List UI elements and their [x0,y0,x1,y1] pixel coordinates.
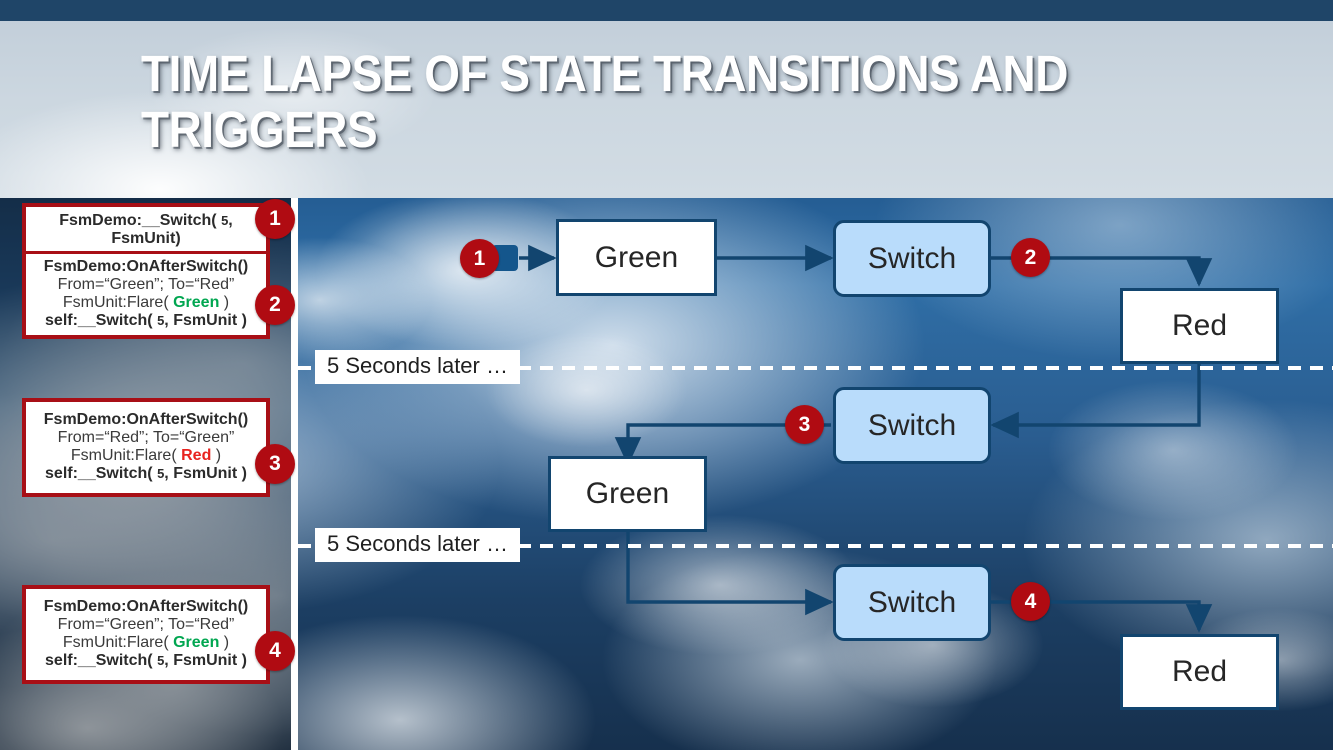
badge-step-2-left[interactable]: 2 [255,285,295,325]
card1-b-line4post: , FsmUnit ) [164,312,247,329]
slide-canvas: Time Lapse of State Transitions and Trig… [0,0,1333,750]
card2-line3pre: FsmUnit:Flare( [71,447,181,464]
card1-b-line3kw: Green [173,294,219,311]
code-card-3[interactable]: FsmDemo:OnAfterSwitch() From=“Green”; To… [22,585,270,684]
card1-b-line1: FsmDemo:OnAfterSwitch() [32,258,260,276]
code-card-1[interactable]: FsmDemo:__Switch( 5, FsmUnit) FsmDemo:On… [22,203,270,339]
card1-line1b: , [228,212,232,229]
card3-line4pre: self:__Switch( [45,652,157,669]
badge-diagram-3[interactable]: 3 [785,405,824,444]
node-red-bottom[interactable]: Red [1120,634,1279,710]
badge-step-2-left-label: 2 [269,293,281,317]
node-red-top-label: Red [1172,309,1227,343]
badge-diagram-2[interactable]: 2 [1011,238,1050,277]
node-green-top[interactable]: Green [556,219,717,296]
card1-b-line3pre: FsmUnit:Flare( [63,294,173,311]
node-switch-top[interactable]: Switch [833,220,991,297]
card3-line3pre: FsmUnit:Flare( [63,634,173,651]
badge-step-4-left-label: 4 [269,639,281,663]
card2-line1: FsmDemo:OnAfterSwitch() [32,411,260,429]
badge-diagram-2-label: 2 [1025,246,1037,270]
timeline-label-2: 5 Seconds later … [315,528,520,562]
badge-diagram-1-label: 1 [474,247,486,271]
card2-line3post: ) [211,447,221,464]
node-switch-mid[interactable]: Switch [833,387,991,464]
card3-line3kw: Green [173,634,219,651]
timeline-label-1: 5 Seconds later … [315,350,520,384]
code-card-2[interactable]: FsmDemo:OnAfterSwitch() From=“Red”; To=“… [22,398,270,497]
badge-step-1[interactable]: 1 [255,199,295,239]
badge-diagram-4-label: 4 [1025,590,1037,614]
code-card-1-block-a: FsmDemo:__Switch( 5, FsmUnit) [26,211,266,249]
top-accent-strip [0,0,1333,21]
card2-line4pre: self:__Switch( [45,465,157,482]
card1-b-line4pre: self:__Switch( [45,312,157,329]
card2-line3kw: Red [181,447,211,464]
node-green-mid[interactable]: Green [548,456,707,532]
card1-b-line3post: ) [219,294,229,311]
node-switch-mid-label: Switch [868,409,956,443]
node-green-top-label: Green [595,241,678,275]
badge-step-1-label: 1 [269,207,281,231]
node-green-mid-label: Green [586,477,669,511]
card1-b-line2: From=“Green”; To=“Red” [32,276,260,294]
code-card-2-body: FsmDemo:OnAfterSwitch() From=“Red”; To=“… [26,410,266,484]
card3-line2: From=“Green”; To=“Red” [32,616,260,634]
node-switch-top-label: Switch [868,242,956,276]
badge-step-3-left[interactable]: 3 [255,444,295,484]
card1-line2: FsmUnit) [32,230,260,248]
card1-line1a: FsmDemo:__Switch( [59,212,221,229]
badge-diagram-4[interactable]: 4 [1011,582,1050,621]
badge-step-4-left[interactable]: 4 [255,631,295,671]
card3-line1: FsmDemo:OnAfterSwitch() [32,598,260,616]
node-switch-bottom[interactable]: Switch [833,564,991,641]
card2-line2: From=“Red”; To=“Green” [32,429,260,447]
card3-line3post: ) [219,634,229,651]
node-switch-bottom-label: Switch [868,586,956,620]
code-card-1-divider [26,251,266,254]
node-red-top[interactable]: Red [1120,288,1279,364]
code-card-3-body: FsmDemo:OnAfterSwitch() From=“Green”; To… [26,597,266,671]
code-card-1-block-b: FsmDemo:OnAfterSwitch() From=“Green”; To… [26,257,266,331]
badge-step-3-left-label: 3 [269,452,281,476]
state-transition-diagram: Green Switch Red Switch Green Switch Red… [298,198,1333,750]
card2-line4post: , FsmUnit ) [164,465,247,482]
badge-diagram-3-label: 3 [799,413,811,437]
badge-diagram-1[interactable]: 1 [460,239,499,278]
card3-line4post: , FsmUnit ) [164,652,247,669]
node-red-bottom-label: Red [1172,655,1227,689]
page-title: Time Lapse of State Transitions and Trig… [141,46,1095,158]
